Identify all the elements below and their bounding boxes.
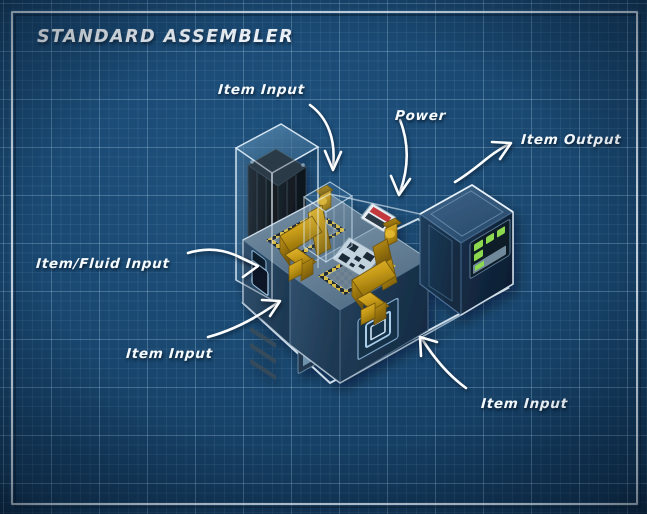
- blueprint-frame-border: [11, 11, 638, 505]
- blueprint-canvas: Item Input Power Item Output Item/Fluid …: [0, 0, 647, 514]
